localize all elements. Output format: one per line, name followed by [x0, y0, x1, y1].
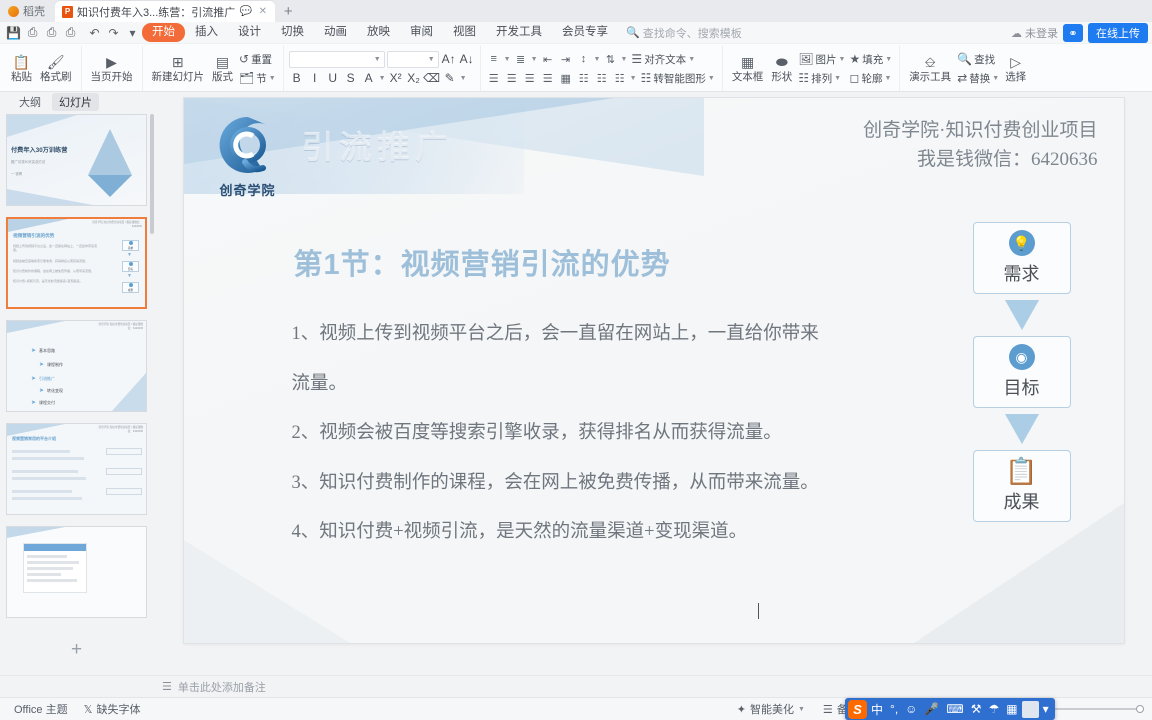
present-from-current-label: 当页开始	[91, 71, 133, 83]
slide-watermark: 引流推广	[302, 122, 454, 168]
home-ribbon-toolbar: 📋 粘贴 🖌 格式刷 ▶ 当页开始 ⊞ 新建幻灯片 ▤ 版式	[0, 44, 1152, 92]
paragraph-group: ≡ ▼ ≣ ▼ ⇤ ⇥ ↕ ▼ ⇅ ▼ ☰ 对齐文本 ▼	[481, 46, 723, 91]
apps-icon[interactable]: ▦	[1003, 700, 1020, 719]
chevron-down-icon[interactable]: ▼	[460, 75, 467, 82]
flow-label-demand: 需求	[1004, 260, 1040, 286]
deco-shape	[7, 527, 65, 538]
thumb-footer: 一 钱哥	[11, 171, 22, 176]
work-area: 大纲 幻灯片 付费年入30万训练营 推广引流30天实战方法 一 钱哥	[0, 92, 1152, 675]
thumb-screenshot	[23, 543, 87, 593]
sogou-ime-logo-icon[interactable]: S	[848, 700, 867, 719]
thumbnail-image: 创奇学院·知识付费创业项目 / 我是钱微信：6420636 ➤ 基本思路 ➤ 课…	[6, 320, 147, 412]
zoom-slider-knob[interactable]	[1136, 705, 1144, 713]
underline-button[interactable]: U	[325, 70, 341, 87]
format-painter-icon: 🖌	[47, 55, 65, 70]
slide-body-text[interactable]: 1、视频上传到视频平台之后，会一直留在网站上，一直给你带来 流量。 2、视频会被…	[292, 310, 912, 558]
slide-canvas-area: 创奇学院 引流推广 创奇学院·知识付费创业项目 我是钱微信：6420636 第1…	[155, 92, 1152, 675]
paste-label: 粘贴	[11, 71, 32, 83]
customize-quick-access-icon[interactable]: ▾	[123, 23, 142, 42]
docer-label: 稻壳	[23, 3, 45, 19]
flow-box-demand[interactable]: 💡 需求	[973, 222, 1071, 294]
grow-font-button[interactable]: A↑	[441, 51, 457, 68]
replace-button[interactable]: ⇄ 替换 ▼	[955, 70, 1001, 87]
list-level-icon[interactable]: ☷	[594, 70, 610, 86]
toolbox-icon[interactable]: ⚒	[968, 700, 985, 719]
thumb-title: 付费年入30万训练营	[11, 145, 67, 154]
slide-extra-col: ↺ 重置 🗂 节 ▼	[237, 46, 278, 91]
thumb-line	[12, 457, 84, 460]
thumbnail-scrollbar[interactable]	[150, 114, 154, 234]
ribbon-tab-view[interactable]: 视图	[443, 23, 486, 42]
chevron-down-icon[interactable]: ▼	[630, 75, 637, 82]
shape-button[interactable]: ⬬ 形状	[767, 46, 796, 91]
thumb-cell	[106, 448, 142, 455]
search-icon: 🔍	[626, 26, 640, 39]
insert-small-col: 🖼 图片 ▼ ☷ 排列 ▼	[796, 46, 847, 91]
thumbnail-image	[6, 526, 147, 618]
comment-icon[interactable]: 💬	[239, 5, 252, 18]
slide-flow-diagram[interactable]: 💡 需求 ◉ 目标 📋 成果	[972, 222, 1072, 522]
shrink-font-button[interactable]: A↓	[459, 51, 475, 68]
thumb-bullet-label: 转化变现	[47, 388, 63, 394]
slides-group: ⊞ 新建幻灯片 ▤ 版式 ↺ 重置 🗂 节 ▼	[143, 46, 284, 91]
font-group: ▼ ▼ A↑ A↓ B I U S A ▼ X²	[284, 46, 481, 91]
arrow-right-icon: ➤	[39, 361, 44, 368]
paragraph-row-1: ≡ ▼ ≣ ▼ ⇤ ⇥ ↕ ▼ ⇅ ▼ ☰ 对齐文本 ▼	[486, 51, 717, 68]
smartart-icon: ☷	[641, 71, 652, 85]
outline-icon: ◻	[849, 71, 859, 85]
clear-format-icon[interactable]: ⌫	[424, 70, 440, 87]
align-text-icon: ☰	[631, 52, 642, 66]
layout-label: 版式	[212, 71, 233, 83]
slide-title[interactable]: 第1节：视频营销引流的优势	[294, 241, 671, 283]
bullets-icon[interactable]: ≡	[486, 51, 502, 67]
chevron-down-icon: ▼	[884, 75, 891, 82]
thumbnail-slide-3[interactable]: 创奇学院·知识付费创业项目 / 我是钱微信：6420636 ➤ 基本思路 ➤ 课…	[6, 320, 147, 412]
present-tools-label: 演示工具	[909, 71, 951, 83]
share-icon[interactable]: ⚭	[1063, 24, 1083, 42]
flow-arrow-icon: ▼	[127, 273, 132, 279]
ribbon-tab-review[interactable]: 审阅	[400, 23, 443, 42]
increase-indent-icon[interactable]: ⇥	[558, 51, 574, 67]
body-line-3: 2、视频会被百度等搜索引擎收录，获得排名从而获得流量。	[292, 409, 912, 459]
thumb-bullet-label: 课程制作	[47, 362, 63, 368]
missing-font-status[interactable]: 𝕏 缺失字体	[76, 701, 149, 717]
present-from-current-button[interactable]: ▶ 当页开始	[87, 46, 137, 91]
save-icon[interactable]: 💾	[4, 23, 23, 42]
ribbon-tab-insert[interactable]: 插入	[185, 23, 228, 42]
thumb-line-3: 知识付费制作的课程，会在网上被免费传播，从而带来流量。	[13, 269, 99, 273]
search-icon: 🔍	[957, 52, 972, 66]
ribbon-tab-member[interactable]: 会员专享	[552, 23, 618, 42]
play-circle-icon: ▶	[106, 55, 117, 70]
insert-objects-group: ▦ 文本框 ⬬ 形状 🖼 图片 ▼ ☷ 排列 ▼	[723, 46, 900, 91]
current-slide[interactable]: 创奇学院 引流推广 创奇学院·知识付费创业项目 我是钱微信：6420636 第1…	[184, 98, 1124, 643]
body-line-2: 流量。	[292, 360, 912, 410]
thumb-bullet-label: 基本思路	[39, 348, 55, 354]
chevron-down-icon: ▼	[798, 706, 805, 713]
flow-arrow-down-icon-1	[1005, 300, 1039, 330]
font-row-1: ▼ ▼ A↑ A↓	[289, 51, 475, 68]
section-button[interactable]: 🗂 节 ▼	[237, 70, 278, 87]
fill-button[interactable]: ★ 填充 ▼	[847, 51, 894, 68]
add-slide-button[interactable]: +	[6, 629, 147, 671]
ribbon-right-group: ☁ 未登录 ⚭ 在线上传	[1011, 22, 1148, 44]
brand-logo-icon	[215, 112, 281, 178]
align-text-label: 对齐文本	[644, 52, 686, 67]
thumb-line	[12, 477, 86, 480]
ribbon-tab-slideshow[interactable]: 放映	[357, 23, 400, 42]
chevron-down-icon: ▼	[992, 75, 999, 82]
deco-shape	[7, 321, 65, 333]
voice-icon[interactable]: 🎤	[921, 700, 942, 719]
fill-label: 填充	[862, 52, 883, 67]
thumb-cell	[106, 488, 142, 495]
theme-status[interactable]: Office 主题	[6, 701, 76, 717]
reset-label: 重置	[251, 52, 272, 67]
notes-icon: ☰	[823, 703, 833, 716]
select-label: 选择	[1005, 71, 1026, 83]
textbox-icon: ▦	[741, 55, 754, 70]
font-col: ▼ ▼ A↑ A↓ B I U S A ▼ X²	[289, 46, 475, 91]
thumbnail-image: 创奇学院·知识付费创业项目 / 我是钱微信：6420636 视频营销引流的优势 …	[6, 217, 147, 309]
highlight-icon[interactable]: ✎	[442, 70, 458, 87]
docer-entry[interactable]: 稻壳	[0, 3, 55, 22]
umbrella-icon[interactable]: ☂	[985, 700, 1002, 719]
fill-icon: ★	[849, 52, 860, 66]
undo-icon[interactable]: ↶	[85, 23, 104, 42]
ribbon-tab-design[interactable]: 设计	[228, 23, 271, 42]
flow-label-goal: 目标	[1004, 374, 1040, 400]
body-line-5: 4、知识付费+视频引流，是天然的流量渠道+变现渠道。	[292, 508, 912, 558]
thumb-flow-label: 成果	[128, 288, 133, 292]
corner-line-1: 创奇学院·知识付费创业项目	[863, 116, 1097, 145]
present-tools-icon: ⎒	[925, 55, 936, 70]
layout-icon: ▤	[216, 55, 229, 70]
thumb-line	[12, 450, 70, 453]
picture-icon: 🖼	[798, 52, 813, 66]
thumbnail-slide-5[interactable]	[6, 526, 147, 618]
flow-label-result: 成果	[1004, 488, 1040, 514]
emoji-icon[interactable]: ☺	[902, 700, 920, 719]
clipboard-check-icon	[129, 283, 133, 287]
cloud-status-label: 未登录	[1025, 25, 1058, 41]
chevron-down-icon: ▼	[688, 56, 695, 63]
thumb-bullet-5: ➤ 课程交付	[31, 399, 55, 406]
ribbon-tab-animations[interactable]: 动画	[314, 23, 357, 42]
flow-box-result[interactable]: 📋 成果	[973, 450, 1071, 522]
missing-font-label: 缺失字体	[96, 701, 140, 717]
thumb-bullet-3: ➤ 引流推广	[31, 375, 55, 382]
lightbulb-icon	[129, 241, 133, 245]
thumbnail-slide-2[interactable]: 创奇学院·知识付费创业项目 / 我是钱微信：6420636 视频营销引流的优势 …	[6, 217, 147, 309]
bold-button[interactable]: B	[289, 70, 305, 87]
chevron-down-icon: ▼	[269, 75, 276, 82]
decrease-indent-icon[interactable]: ⇤	[540, 51, 556, 67]
align-center-icon[interactable]: ☰	[504, 70, 520, 86]
superscript-button[interactable]: X²	[388, 70, 404, 87]
tab-outline[interactable]: 大纲	[12, 93, 48, 111]
thumbnail-image: 付费年入30万训练营 推广引流30天实战方法 一 钱哥	[6, 114, 147, 206]
text-color-button[interactable]: A	[361, 70, 377, 87]
thumb-line-4: 知识付费+视频引流，是天然的流量渠道+变现渠道。	[13, 279, 99, 283]
present-tools-button[interactable]: ⎒ 演示工具	[905, 46, 955, 91]
thumb-subtitle: 推广引流30天实战方法	[11, 159, 45, 164]
ribbon-search[interactable]: 🔍 查找命令、搜索模板	[626, 25, 742, 41]
replace-icon: ⇄	[957, 71, 967, 85]
thumb-line	[12, 490, 72, 493]
flow-box-goal[interactable]: ◉ 目标	[973, 336, 1071, 408]
shape-icon: ⬬	[776, 55, 788, 70]
upload-button[interactable]: 在线上传	[1088, 23, 1148, 43]
thumb-flow-box-2: 目标	[122, 261, 139, 272]
flow-arrow-icon: ▼	[127, 252, 132, 258]
new-slide-icon: ⊞	[172, 55, 184, 70]
tab-slides[interactable]: 幻灯片	[52, 93, 99, 111]
convert-smartart-button[interactable]: ☷ 转智能图形 ▼	[639, 70, 717, 87]
redo-icon[interactable]: ↷	[104, 23, 123, 42]
keyboard-icon[interactable]: ⌨	[943, 700, 966, 719]
ime-skin-icon[interactable]	[1022, 701, 1039, 718]
arrow-right-icon: ➤	[31, 347, 36, 354]
cloud-icon: ☁	[1011, 27, 1022, 40]
present-group: ▶ 当页开始	[82, 46, 143, 91]
deco-shape-bottom	[7, 189, 93, 205]
select-button[interactable]: ▷ 选择	[1001, 46, 1030, 91]
thumbnail-slide-4[interactable]: 创奇学院·知识付费创业项目 / 我是钱微信：6420636 视频营销常用的平台介…	[6, 423, 147, 515]
ribbon-tab-bar: 💾 ⎙ ⎙ ⎙ ↶ ↷ ▾ 开始 插入 设计 切换 动画 放映 审阅 视图 开发…	[0, 22, 1152, 44]
flow-arrow-down-icon-2	[1005, 414, 1039, 444]
chevron-down-icon[interactable]: ▼	[531, 56, 538, 63]
deco-shape	[7, 424, 65, 436]
thumbnail-slide-1[interactable]: 付费年入30万训练营 推广引流30天实战方法 一 钱哥	[6, 114, 147, 206]
font-row-2: B I U S A ▼ X² X₂ ⌫ ✎ ▼	[289, 70, 475, 87]
justify-icon[interactable]: ☰	[540, 70, 556, 86]
close-icon[interactable]: ✕	[256, 5, 269, 18]
beautify-label: 智能美化	[750, 701, 794, 717]
corner-line-2: 我是钱微信：6420636	[863, 145, 1097, 174]
chevron-down-icon: ▼	[839, 56, 846, 63]
thumb-line-2: 视频会被百度等搜索引擎收录，获得排名从而获得流量。	[13, 259, 99, 263]
cloud-status[interactable]: ☁ 未登录	[1011, 25, 1058, 41]
deco-diamond-bottom	[88, 175, 132, 197]
format-painter-button[interactable]: 🖌 格式刷	[36, 46, 76, 91]
align-right-icon[interactable]: ☰	[522, 70, 538, 86]
thumb-bullet-label: 引流推广	[39, 376, 55, 382]
thumb-line-1: 视频上传到视频平台之后，会一直留在网站上，一直给你带来流量。	[13, 244, 99, 252]
arrange-button[interactable]: ☷ 排列 ▼	[796, 70, 847, 87]
thumb-flow-label: 需求	[128, 246, 133, 250]
ime-mode-button[interactable]: 中	[868, 700, 886, 719]
thumbnail-list[interactable]: 付费年入30万训练营 推广引流30天实战方法 一 钱哥 创奇学院·知识付费创业项…	[0, 112, 155, 675]
paste-button[interactable]: 📋 粘贴	[7, 46, 36, 91]
outline-label: 轮廓	[861, 71, 882, 86]
paragraph-settings-icon[interactable]: ☷	[612, 70, 628, 86]
notes-icon: ☰	[162, 680, 172, 693]
text-cursor	[758, 603, 759, 619]
output-pdf-icon[interactable]: ⎙	[61, 23, 80, 42]
line-spacing-icon[interactable]: ↕	[576, 51, 592, 67]
thumb-cell	[106, 468, 142, 475]
pptx-file-icon: P	[62, 6, 73, 18]
chevron-down-icon: ▼	[834, 75, 841, 82]
strikethrough-button[interactable]: S	[343, 70, 359, 87]
distribute-icon[interactable]: ▦	[558, 70, 574, 86]
picture-button[interactable]: 🖼 图片 ▼	[796, 51, 847, 68]
thumb-line	[12, 497, 82, 500]
fill-col: ★ 填充 ▼ ◻ 轮廓 ▼	[847, 46, 894, 91]
chevron-down-icon: ▼	[374, 56, 381, 63]
target-icon: ◉	[1009, 344, 1035, 370]
clipboard-check-icon: 📋	[1009, 458, 1035, 484]
convert-smartart-label: 转智能图形	[653, 71, 706, 86]
columns-icon[interactable]: ☷	[576, 70, 592, 86]
replace-label: 替换	[969, 71, 990, 86]
subscript-button[interactable]: X₂	[406, 70, 422, 87]
reset-button[interactable]: ↺ 重置	[237, 51, 278, 68]
print-preview-icon[interactable]: ⎙	[23, 23, 42, 42]
find-button[interactable]: 🔍 查找	[955, 51, 1001, 68]
cursor-select-icon: ▷	[1010, 55, 1021, 70]
thumb-line	[12, 470, 78, 473]
smart-beautify-button[interactable]: ✦ 智能美化 ▼	[729, 701, 813, 717]
thumb-flow-label: 目标	[128, 267, 133, 271]
window-tab-strip: 稻壳 P 知识付费年入3...练营：引流推广 💬 ✕ +	[0, 0, 1152, 22]
thumb-bullet-label: 课程交付	[39, 400, 55, 406]
clipboard-group: 📋 粘贴 🖌 格式刷	[2, 46, 82, 91]
textbox-button[interactable]: ▦ 文本框	[728, 46, 768, 91]
section-label: 节	[256, 71, 267, 86]
thumb-title: 视频营销引流的优势	[13, 233, 54, 239]
thumb-title: 视频营销常用的平台介绍	[12, 436, 56, 442]
zoom-slider[interactable]	[1054, 708, 1140, 710]
notes-placeholder: 单击此处添加备注	[178, 679, 266, 695]
slide-navigator-panel: 大纲 幻灯片 付费年入30万训练营 推广引流30天实战方法 一 钱哥	[0, 92, 155, 675]
arrow-right-icon: ➤	[31, 375, 36, 382]
wps-presentation-window: 稻壳 P 知识付费年入3...练营：引流推广 💬 ✕ + 💾 ⎙ ⎙ ⎙ ↶ ↷…	[0, 0, 1152, 720]
thumb-corner: 创奇学院·知识付费创业项目 / 我是钱微信：6420636	[95, 323, 143, 331]
chevron-down-icon: ▼	[428, 56, 435, 63]
arrange-icon: ☷	[798, 71, 809, 85]
thumbnail-image: 创奇学院·知识付费创业项目 / 我是钱微信：6420636 视频营销常用的平台介…	[6, 423, 147, 515]
find-col: 🔍 查找 ⇄ 替换 ▼	[955, 46, 1001, 91]
brand-c-icon	[215, 112, 281, 178]
slide-corner-text: 创奇学院·知识付费创业项目 我是钱微信：6420636	[863, 116, 1097, 175]
font-name-input[interactable]: ▼	[289, 51, 385, 68]
layout-button[interactable]: ▤ 版式	[208, 46, 237, 91]
ribbon-search-placeholder: 查找命令、搜索模板	[643, 25, 742, 41]
ime-toolbar[interactable]: S 中 °, ☺ 🎤 ⌨ ⚒ ☂ ▦ ▾	[845, 698, 1055, 720]
slide-logo: 创奇学院	[212, 112, 284, 199]
italic-button[interactable]: I	[307, 70, 323, 87]
new-slide-button[interactable]: ⊞ 新建幻灯片	[148, 46, 209, 91]
outline-button[interactable]: ◻ 轮廓 ▼	[847, 70, 894, 87]
ime-punctuation-button[interactable]: °,	[887, 700, 901, 719]
font-size-input[interactable]: ▼	[387, 51, 439, 68]
chevron-down-icon[interactable]: ▼	[504, 56, 511, 63]
thumb-flow-box-3: 成果	[122, 282, 139, 293]
print-icon[interactable]: ⎙	[42, 23, 61, 42]
chevron-down-icon[interactable]: ▾	[1040, 700, 1052, 719]
thumb-corner: 创奇学院·知识付费创业项目 / 我是钱微信：6420636	[92, 221, 142, 229]
tools-group: ⎒ 演示工具 🔍 查找 ⇄ 替换 ▼ ▷ 选择	[900, 46, 1035, 91]
thumb-bullet-1: ➤ 基本思路	[31, 347, 55, 354]
document-tab[interactable]: P 知识付费年入3...练营：引流推广 💬 ✕	[55, 1, 275, 22]
brand-name: 创奇学院	[212, 180, 284, 199]
ribbon-tab-developer[interactable]: 开发工具	[486, 23, 552, 42]
chevron-down-icon: ▼	[708, 75, 715, 82]
shape-label: 形状	[771, 71, 792, 83]
deco-shape	[7, 115, 77, 137]
format-painter-label: 格式刷	[40, 71, 72, 83]
chevron-down-icon: ▼	[885, 56, 892, 63]
align-text-button[interactable]: ☰ 对齐文本 ▼	[629, 51, 697, 68]
thumb-corner: 创奇学院·知识付费创业项目 / 我是钱微信：6420636	[95, 426, 143, 434]
new-tab-button[interactable]: +	[275, 1, 301, 22]
target-icon	[129, 262, 133, 266]
lightbulb-icon: 💡	[1009, 230, 1035, 256]
chevron-down-icon[interactable]: ▼	[379, 75, 386, 82]
new-slide-label: 新建幻灯片	[152, 71, 205, 83]
numbering-icon[interactable]: ≣	[513, 51, 529, 67]
ribbon-tab-transitions[interactable]: 切换	[271, 23, 314, 42]
section-icon: 🗂	[239, 71, 254, 85]
thumb-bullet-2: ➤ 课程制作	[39, 361, 63, 368]
deco-diamond-top	[88, 129, 132, 175]
text-direction-icon[interactable]: ⇅	[602, 51, 618, 67]
document-tab-title: 知识付费年入3...练营：引流推广	[77, 4, 235, 20]
arrow-right-icon: ➤	[39, 387, 44, 394]
docer-icon	[8, 6, 19, 17]
paragraph-row-2: ☰ ☰ ☰ ☰ ▦ ☷ ☷ ☷ ▼ ☷ 转智能图形 ▼	[486, 70, 717, 87]
thumb-flow-box-1: 需求	[122, 240, 139, 251]
align-left-icon[interactable]: ☰	[486, 70, 502, 86]
deco-shape-corner	[112, 373, 146, 411]
ribbon-tab-home[interactable]: 开始	[142, 23, 185, 42]
arrow-right-icon: ➤	[31, 399, 36, 406]
beautify-icon: ✦	[737, 703, 746, 716]
paste-icon: 📋	[13, 55, 30, 70]
chevron-down-icon[interactable]: ▼	[620, 56, 627, 63]
notes-pane[interactable]: ☰ 单击此处添加备注	[0, 675, 1152, 697]
textbox-label: 文本框	[732, 71, 764, 83]
picture-label: 图片	[816, 52, 837, 67]
find-label: 查找	[974, 52, 995, 67]
arrange-label: 排列	[811, 71, 832, 86]
deco-shape	[8, 219, 68, 232]
font-warning-icon: 𝕏	[84, 703, 93, 716]
thumb-bullet-4: ➤ 转化变现	[39, 387, 63, 394]
body-line-1: 1、视频上传到视频平台之后，会一直留在网站上，一直给你带来	[292, 310, 912, 360]
paragraph-col: ≡ ▼ ≣ ▼ ⇤ ⇥ ↕ ▼ ⇅ ▼ ☰ 对齐文本 ▼	[486, 46, 717, 91]
chevron-down-icon[interactable]: ▼	[594, 56, 601, 63]
reset-icon: ↺	[239, 52, 249, 66]
navigator-tabs: 大纲 幻灯片	[0, 92, 155, 112]
body-line-4: 3、知识付费制作的课程，会在网上被免费传播，从而带来流量。	[292, 459, 912, 509]
